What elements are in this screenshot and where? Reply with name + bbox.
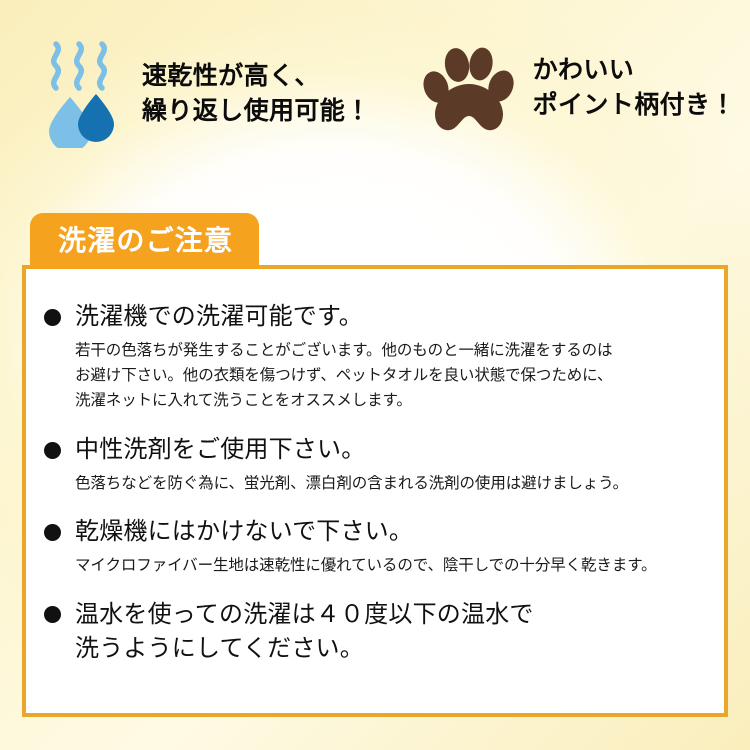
care-instructions-tab: 洗濯のご注意 — [30, 213, 259, 269]
feature-paw-pattern: かわいい ポイント柄付き！ — [423, 40, 736, 136]
bullet-dot-icon — [44, 309, 61, 326]
feature-row: 速乾性が高く、 繰り返し使用可能！ かわいい ポイント柄付き！ — [0, 40, 750, 180]
care-item-body: 色落ちなどを防ぐ為に、蛍光剤、漂白剤の含まれる洗剤の使用は避けましょう。 — [75, 471, 708, 496]
care-item-heading: 乾燥機にはかけないで下さい。 — [44, 516, 708, 547]
care-instructions-list: 洗濯機での洗濯可能です。 若干の色落ちが発生することがございます。他のものと一緒… — [22, 265, 728, 666]
feature-quick-dry: 速乾性が高く、 繰り返し使用可能！ — [44, 40, 371, 148]
care-item-heading: 洗濯機での洗濯可能です。 — [44, 301, 708, 332]
care-item: 乾燥機にはかけないで下さい。 マイクロファイバー生地は速乾性に優れているので、陰… — [44, 516, 708, 578]
paw-print-icon — [423, 40, 515, 136]
feature-paw-pattern-text: かわいい ポイント柄付き！ — [533, 53, 736, 124]
care-item-body: マイクロファイバー生地は速乾性に優れているので、陰干しでの十分早く乾きます。 — [75, 553, 708, 578]
bullet-dot-icon — [44, 442, 61, 459]
care-item-title: 温水を使っての洗濯は４０度以下の温水で 洗うようにしてください。 — [75, 598, 534, 666]
water-drop-quick-dry-icon — [44, 40, 118, 148]
care-item-title: 中性洗剤をご使用下さい。 — [75, 434, 365, 465]
care-instructions-graphic: 速乾性が高く、 繰り返し使用可能！ かわいい ポイント柄付き！ 洗濯のご注意 — [0, 0, 750, 750]
care-instructions-tab-label: 洗濯のご注意 — [58, 227, 233, 255]
care-item: 洗濯機での洗濯可能です。 若干の色落ちが発生することがございます。他のものと一緒… — [44, 301, 708, 414]
care-item: 中性洗剤をご使用下さい。 色落ちなどを防ぐ為に、蛍光剤、漂白剤の含まれる洗剤の使… — [44, 434, 708, 496]
care-item: 温水を使っての洗濯は４０度以下の温水で 洗うようにしてください。 — [44, 598, 708, 666]
care-item-body: 若干の色落ちが発生することがございます。他のものと一緒に洗濯をするのは お避け下… — [75, 338, 708, 413]
feature-quick-dry-text: 速乾性が高く、 繰り返し使用可能！ — [142, 59, 371, 130]
care-item-heading: 中性洗剤をご使用下さい。 — [44, 434, 708, 465]
care-item-title: 乾燥機にはかけないで下さい。 — [75, 516, 413, 547]
care-item-title: 洗濯機での洗濯可能です。 — [75, 301, 363, 332]
bullet-dot-icon — [44, 524, 61, 541]
bullet-dot-icon — [44, 606, 61, 623]
care-item-heading: 温水を使っての洗濯は４０度以下の温水で 洗うようにしてください。 — [44, 598, 708, 666]
